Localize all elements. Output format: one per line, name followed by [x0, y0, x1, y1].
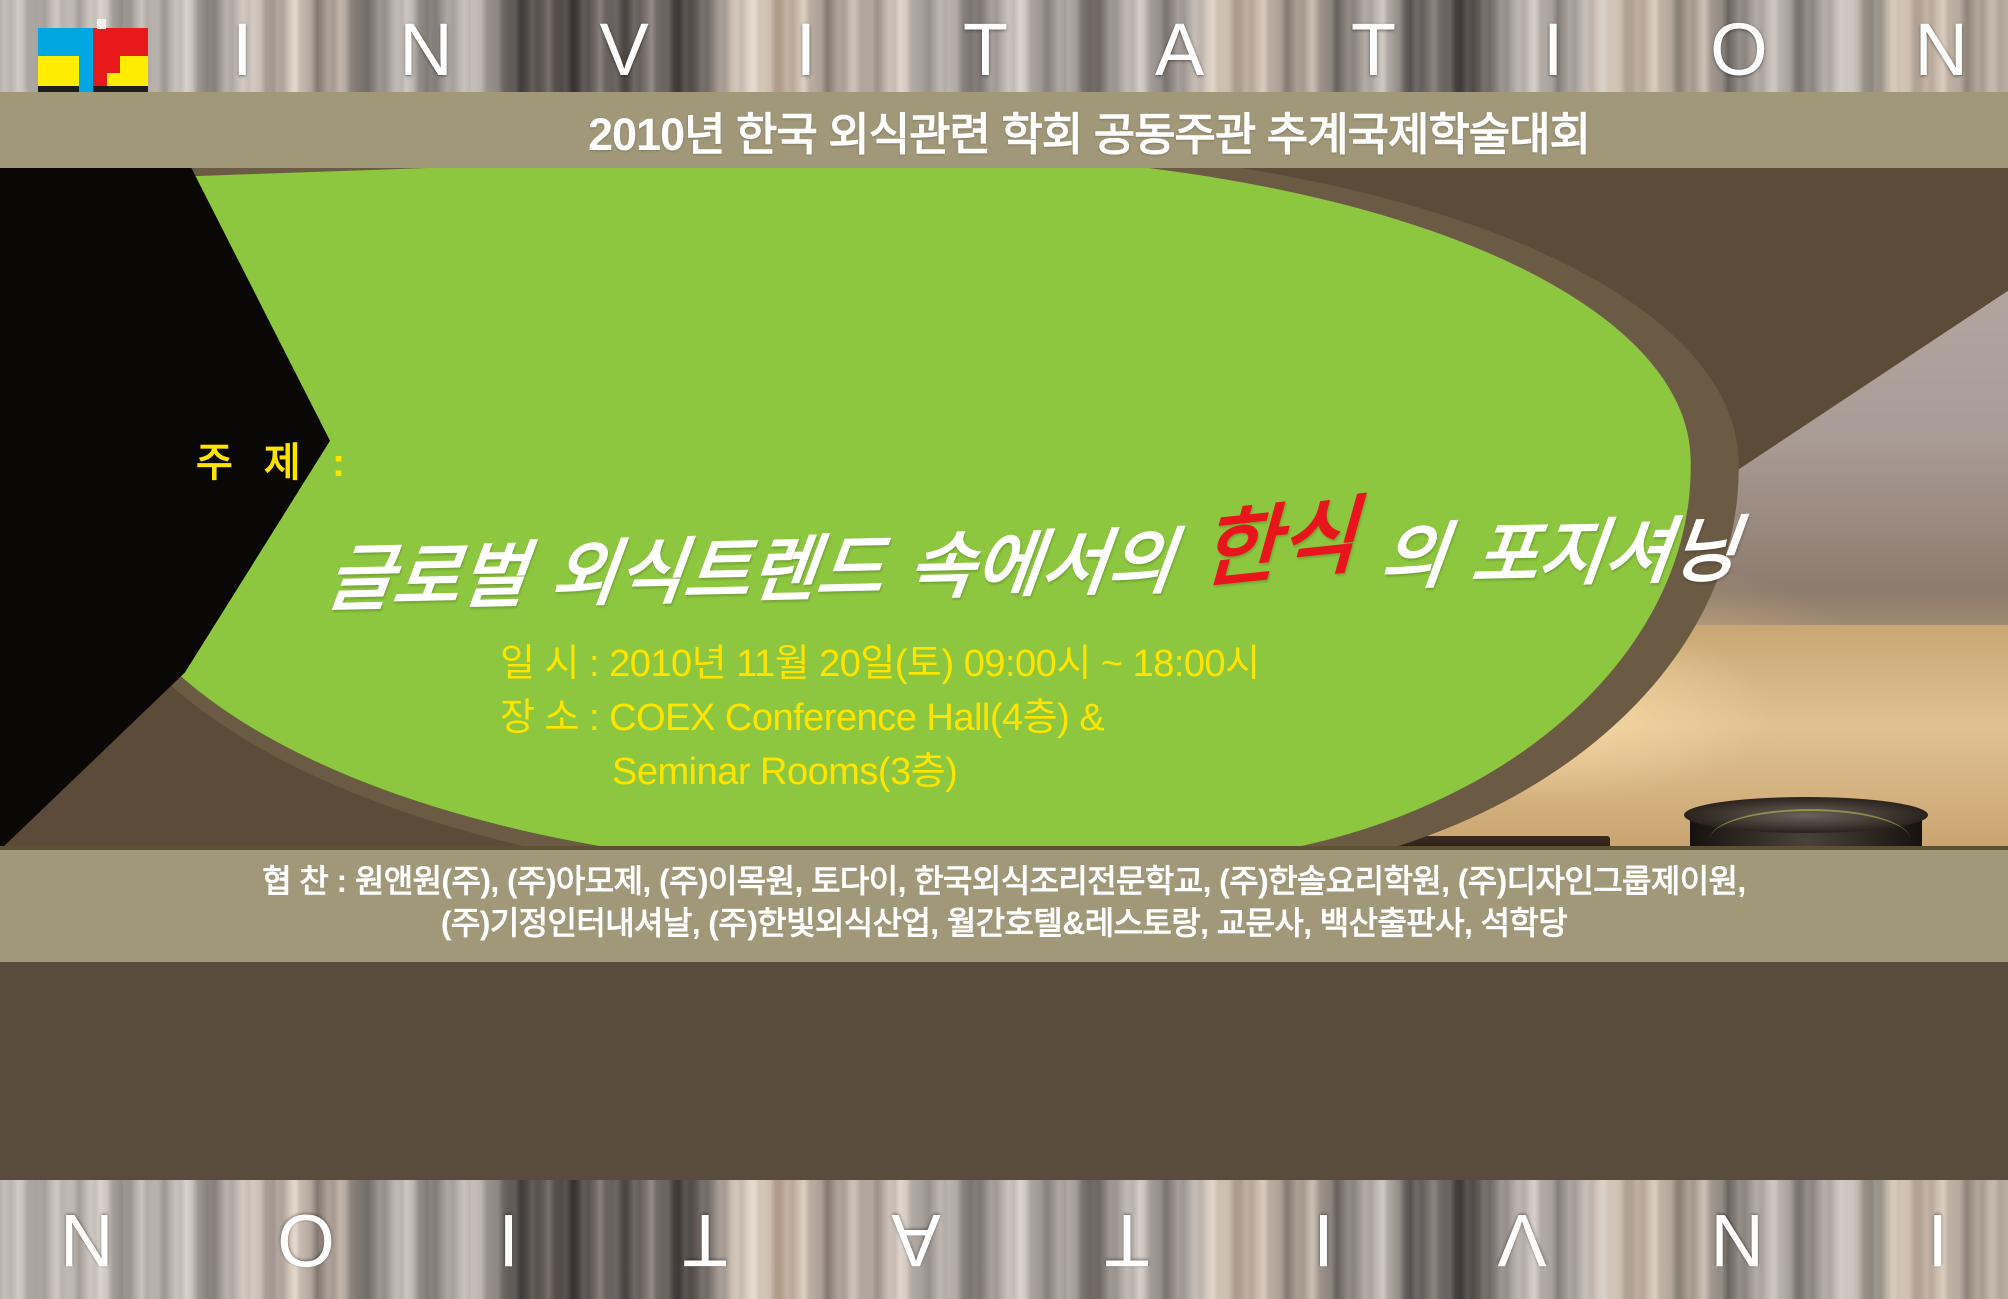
event-venue-line-2: Seminar Rooms(3층) — [500, 746, 1260, 800]
invitation-letter: T — [683, 1203, 728, 1277]
invitation-letter: A — [891, 1203, 940, 1277]
invitation-letter: I — [232, 13, 253, 87]
invitation-poster: I N V I T A T I O N — [0, 0, 2008, 1299]
invitation-letter: T — [1351, 13, 1396, 87]
invitation-letter: T — [963, 13, 1008, 87]
theme-part-one: 글로벌 외식트렌드 속에서의 — [322, 502, 1182, 625]
invitation-letter: N — [1710, 1203, 1763, 1277]
invitation-letter: T — [1104, 1203, 1149, 1277]
invitation-letter: V — [1497, 1203, 1546, 1277]
subject-label: 주 제 : — [196, 430, 355, 488]
theme-highlight-hansik: 한식 — [1199, 468, 1359, 605]
conference-title: 2010년 한국 외식관련 학회 공동주관 추계국제학술대회 — [588, 98, 1590, 163]
invitation-letter: I — [498, 1203, 519, 1277]
invitation-letter: N — [1914, 13, 1967, 87]
conference-title-band: 2010년 한국 외식관련 학회 공동주관 추계국제학술대회 — [0, 92, 2008, 168]
sponsor-band-rule — [0, 846, 2008, 850]
event-venue-line: 장 소 : COEX Conference Hall(4층) & — [500, 692, 1260, 746]
sponsor-band: 협 찬 : 원앤원(주), (주)아모제, (주)이목원, 토다이, 한국외식조… — [0, 850, 2008, 962]
invitation-letter: V — [599, 13, 648, 87]
dark-ceramic-bowl — [1690, 813, 1922, 850]
theme-part-two: 의 포지셔닝 — [1376, 491, 1746, 603]
event-details-block: 일 시 : 2010년 11월 20일(토) 09:00시 ~ 18:00시 장… — [500, 638, 1260, 800]
event-date-line: 일 시 : 2010년 11월 20일(토) 09:00시 ~ 18:00시 — [500, 638, 1260, 692]
invitation-letter: A — [1155, 13, 1204, 87]
invitation-letter: I — [1313, 1203, 1334, 1277]
invitation-letter: I — [1543, 13, 1564, 87]
invitation-wordmark-top: I N V I T A T I O N — [232, 0, 1968, 100]
poster-main-stage: 주 제 : 글로벌 외식트렌드 속에서의 한식 의 포지셔닝 일 시 : 201… — [0, 168, 2008, 850]
sponsor-line-2: (주)기정인터내셔날, (주)한빛외식산업, 월간호텔&레스토랑, 교문사, 백… — [0, 902, 2008, 944]
invitation-letter: N — [60, 1203, 113, 1277]
invitation-wordmark-bottom: I N V I T A T I O N — [60, 1185, 1948, 1295]
invitation-letter: O — [277, 1203, 335, 1277]
invitation-letter: O — [1710, 13, 1768, 87]
invitation-letter: I — [1927, 1203, 1948, 1277]
sponsor-line-1: 협 찬 : 원앤원(주), (주)아모제, (주)이목원, 토다이, 한국외식조… — [0, 860, 2008, 902]
invitation-letter: I — [796, 13, 817, 87]
invitation-letter: N — [399, 13, 452, 87]
